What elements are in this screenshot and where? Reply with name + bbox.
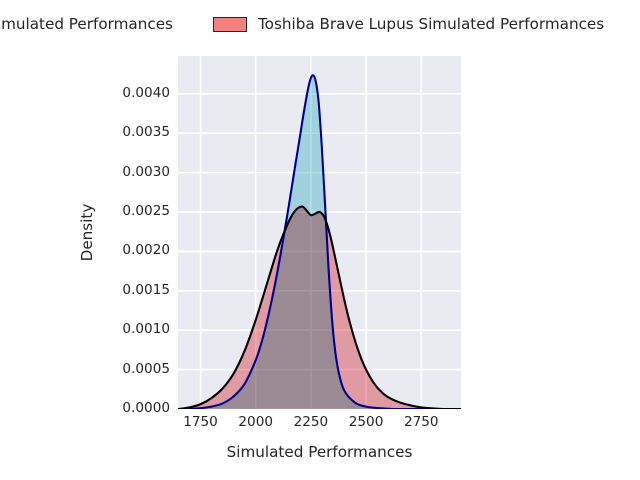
y-tick-label: 0.0040: [108, 87, 170, 101]
density-curves: [178, 75, 461, 409]
y-axis-ticks: 0.00000.00050.00100.00150.00200.00250.00…: [104, 56, 170, 409]
y-tick-label: 0.0005: [108, 363, 170, 377]
plot-area: [178, 56, 461, 409]
x-tick-label: 2250: [294, 416, 329, 430]
legend-item-shizuoka-blue-revs[interactable]: Shizuoka Blue Revs Simulated Performance…: [0, 17, 173, 32]
x-axis-ticks: 17502000225025002750: [178, 416, 461, 436]
y-tick-label: 0.0025: [108, 205, 170, 219]
y-axis-label: Density: [78, 56, 100, 409]
y-tick-label: 0.0035: [108, 126, 170, 140]
y-tick-label: 0.0000: [108, 402, 170, 416]
y-tick-label: 0.0030: [108, 166, 170, 180]
legend-swatch-toshiba-brave-lupus: [213, 17, 247, 32]
x-tick-label: 1750: [183, 416, 218, 430]
y-tick-label: 0.0015: [108, 284, 170, 298]
x-tick-label: 2000: [238, 416, 273, 430]
y-tick-label: 0.0010: [108, 323, 170, 337]
y-tick-label: 0.0020: [108, 245, 170, 259]
legend-label-shizuoka-blue-revs: Shizuoka Blue Revs Simulated Performance…: [0, 17, 173, 32]
x-axis-label: Simulated Performances: [178, 443, 461, 461]
density-fill: [178, 207, 461, 410]
density-plot-svg: [178, 56, 461, 409]
legend-item-toshiba-brave-lupus[interactable]: Toshiba Brave Lupus Simulated Performanc…: [213, 17, 604, 32]
legend-label-toshiba-brave-lupus: Toshiba Brave Lupus Simulated Performanc…: [258, 17, 604, 32]
legend: Shizuoka Blue Revs Simulated Performance…: [0, 0, 640, 50]
x-tick-label: 2750: [404, 416, 439, 430]
x-tick-label: 2500: [349, 416, 384, 430]
